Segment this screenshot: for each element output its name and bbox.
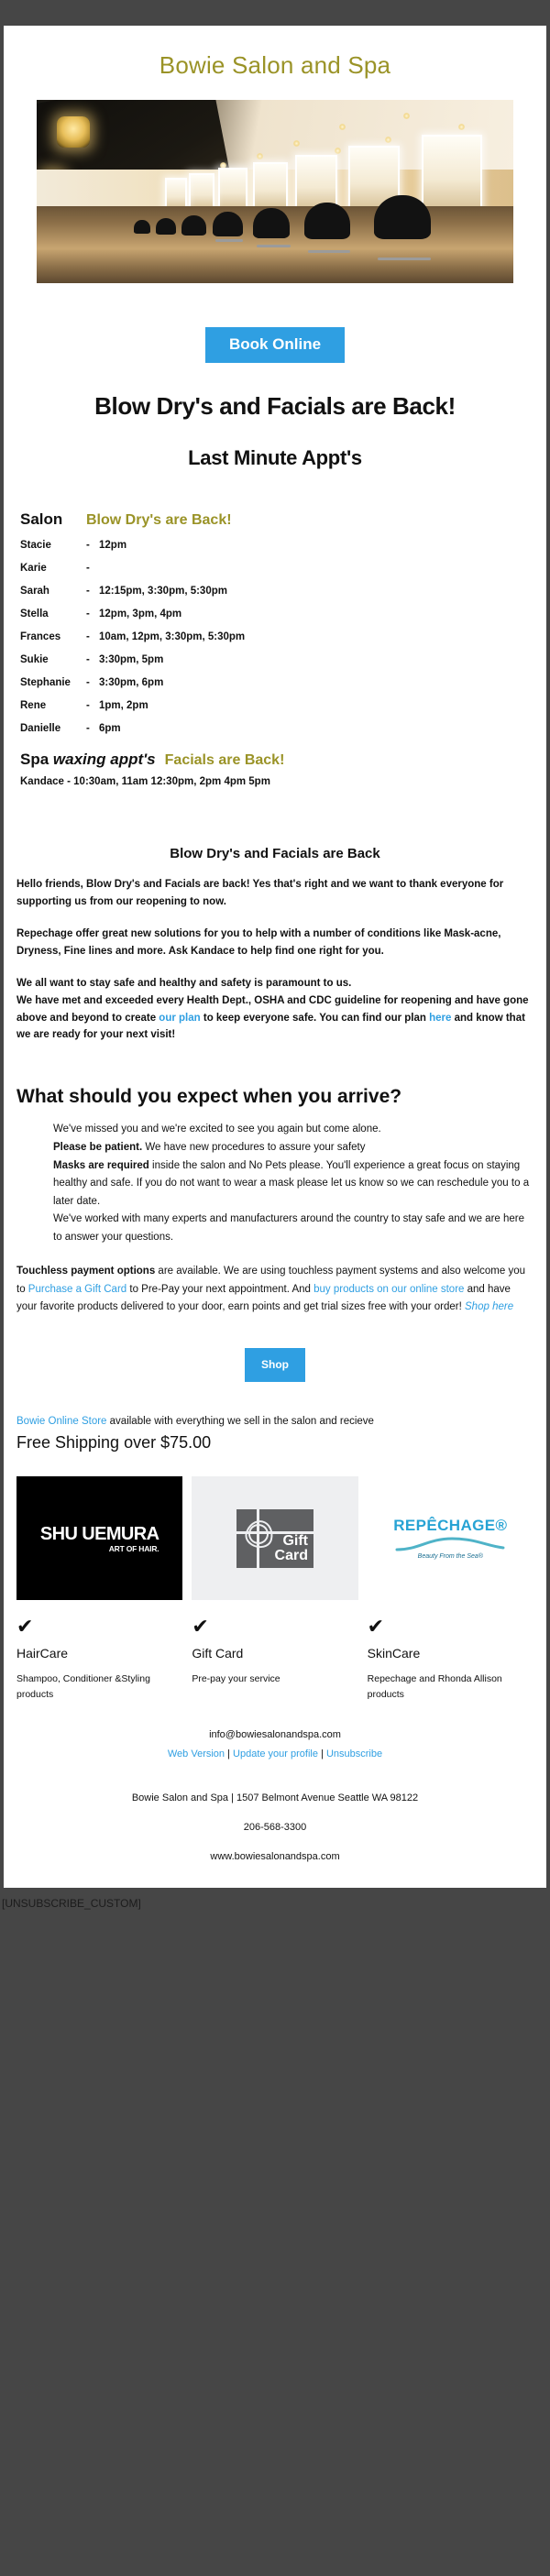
subheadline: Last Minute Appt's <box>4 446 546 470</box>
email-footer: info@bowiesalonandspa.com Web Version | … <box>4 1702 546 1888</box>
hero-image-wrap: bowie bowie bowie bowie bowie <box>4 100 546 283</box>
card-title-gift-card: Gift Card <box>192 1646 357 1661</box>
top-spacer-bar <box>0 0 550 26</box>
row-dash: - <box>86 631 99 642</box>
ceiling-light-dot <box>293 140 300 147</box>
check-icon: ✔ <box>192 1617 357 1637</box>
card-title-haircare: HairCare <box>16 1646 182 1661</box>
card-desc-skincare: Repechage and Rhonda Allison products <box>368 1672 533 1702</box>
email-body-sheet: Bowie Salon and Spa <box>0 26 550 1888</box>
stylist-name: Stacie <box>20 540 86 551</box>
stylist-name: Sukie <box>20 654 86 665</box>
bowie-online-store-link[interactable]: Bowie Online Store <box>16 1416 106 1427</box>
masks-required-bold: Masks are required <box>53 1160 149 1171</box>
schedule-header: Salon Blow Dry's are Back! <box>20 510 546 529</box>
business-address: Bowie Salon and Spa | 1507 Belmont Avenu… <box>4 1792 546 1803</box>
salon-chair <box>156 218 176 235</box>
shop-button[interactable]: Shop <box>245 1348 305 1382</box>
our-plan-link[interactable]: our plan <box>159 1013 200 1024</box>
row-dash: - <box>86 586 99 597</box>
here-link[interactable]: here <box>429 1013 451 1024</box>
table-row: Danielle - 6pm <box>20 723 546 734</box>
card-title-skincare: SkinCare <box>368 1646 533 1661</box>
stylist-times: 3:30pm, 5pm <box>99 654 163 665</box>
card-desc-haircare: Shampoo, Conditioner &Styling products <box>16 1672 182 1702</box>
shu-uemura-logo-icon: SHU UEMURA ART OF HAIR. <box>16 1476 182 1600</box>
row-dash: - <box>86 677 99 688</box>
row-dash: - <box>86 723 99 734</box>
expect-paragraph: We've missed you and we're excited to se… <box>4 1121 546 1246</box>
table-row: Karie - <box>20 563 546 574</box>
book-online-row: Book Online <box>4 283 546 363</box>
online-store-link[interactable]: buy products on our online store <box>313 1284 464 1295</box>
ceiling-light-dot <box>339 124 346 130</box>
row-dash: - <box>86 700 99 711</box>
row-dash: - <box>86 608 99 619</box>
store-line-rest: available with everything we sell in the… <box>106 1416 374 1427</box>
blow-dry-highlight: Blow Dry's are Back! <box>86 512 232 529</box>
table-row: Sukie - 3:30pm, 5pm <box>20 654 546 665</box>
ceiling-light-dot <box>257 153 263 159</box>
expect-line2: We have new procedures to assure your sa… <box>142 1142 365 1153</box>
please-be-patient-bold: Please be patient. <box>53 1142 142 1153</box>
card-word: Card <box>275 1549 308 1563</box>
salon-chair <box>374 195 431 239</box>
repechage-logo-icon: REPÊCHAGE® Beauty From the Sea® <box>368 1476 533 1600</box>
card-haircare[interactable]: SHU UEMURA ART OF HAIR. ✔ HairCare Shamp… <box>16 1476 182 1702</box>
stylist-name: Karie <box>20 563 86 574</box>
repechage-wordmark: REPÊCHAGE® <box>393 1517 507 1535</box>
stylist-times: 10am, 12pm, 3:30pm, 5:30pm <box>99 631 245 642</box>
stylist-times: 12:15pm, 3:30pm, 5:30pm <box>99 586 227 597</box>
chair-base <box>257 245 291 247</box>
stylist-times: 12pm <box>99 540 126 551</box>
repechage-paragraph: Repechage offer great new solutions for … <box>4 926 546 960</box>
spa-label-italic: waxing appt's <box>53 751 156 768</box>
safety-line3: to keep everyone safe. You can find our … <box>201 1013 429 1024</box>
mirror-station <box>165 178 187 210</box>
shu-uemura-tagline: ART OF HAIR. <box>40 1545 159 1553</box>
salon-label: Salon <box>20 510 86 529</box>
check-icon: ✔ <box>16 1617 182 1637</box>
table-row: Stacie - 12pm <box>20 540 546 551</box>
stylist-name: Sarah <box>20 586 86 597</box>
gift-word: Gift <box>275 1534 308 1549</box>
table-row: Rene - 1pm, 2pm <box>20 700 546 711</box>
ceiling-light-dot <box>458 124 465 130</box>
purchase-gift-card-link[interactable]: Purchase a Gift Card <box>28 1284 126 1295</box>
table-row: Frances - 10am, 12pm, 3:30pm, 5:30pm <box>20 631 546 642</box>
appointment-schedule: Salon Blow Dry's are Back! Stacie - 12pm… <box>4 510 546 787</box>
card-skincare[interactable]: REPÊCHAGE® Beauty From the Sea® ✔ SkinCa… <box>368 1476 533 1702</box>
ceiling-light-dot <box>335 148 341 154</box>
salon-chair <box>304 203 350 239</box>
expect-line1: We've missed you and we're excited to se… <box>53 1124 381 1135</box>
ceiling-light-dot <box>403 113 410 119</box>
business-phone: 206-568-3300 <box>4 1822 546 1833</box>
shop-here-link[interactable]: Shop here <box>465 1301 513 1312</box>
check-icon: ✔ <box>368 1617 533 1637</box>
stylist-times: 1pm, 2pm <box>99 700 148 711</box>
ceiling-light-dot <box>385 137 391 143</box>
salon-chair <box>213 212 243 236</box>
card-desc-gift-card: Pre-pay your service <box>192 1672 357 1686</box>
stylist-name: Rene <box>20 700 86 711</box>
stylist-name: Danielle <box>20 723 86 734</box>
shop-button-row: Shop <box>4 1317 546 1382</box>
salon-interior-image: bowie bowie bowie bowie bowie <box>37 100 513 283</box>
chair-base <box>215 239 243 242</box>
stylist-times: 12pm, 3pm, 4pm <box>99 608 181 619</box>
spa-label-plain: Spa <box>20 751 53 768</box>
mirror-station <box>253 162 288 210</box>
salon-chair <box>134 220 150 234</box>
stylist-times: 6pm <box>99 723 121 734</box>
chair-base <box>308 250 350 253</box>
stylist-name: Stephanie <box>20 677 86 688</box>
contact-email: info@bowiesalonandspa.com <box>4 1729 546 1740</box>
row-dash: - <box>86 563 99 574</box>
spa-label: Spa waxing appt's <box>20 751 156 769</box>
mirror-station <box>295 155 337 210</box>
card-gift-card[interactable]: Gift Card ✔ Gift Card Pre-pay your servi… <box>192 1476 357 1702</box>
table-row: Sarah - 12:15pm, 3:30pm, 5:30pm <box>20 586 546 597</box>
book-online-button[interactable]: Book Online <box>205 327 345 363</box>
touchless-payment-bold: Touchless payment options <box>16 1266 155 1277</box>
web-version-link[interactable]: Web Version <box>168 1748 225 1759</box>
salon-chair <box>253 208 290 238</box>
link-separator: | <box>225 1748 233 1759</box>
spa-schedule-row: Kandace - 10:30am, 11am 12:30pm, 2pm 4pm… <box>20 776 546 787</box>
wave-icon <box>393 1537 507 1551</box>
free-shipping-line: Free Shipping over $75.00 <box>4 1433 546 1452</box>
section-heading-expect: What should you expect when you arrive? <box>4 1086 546 1108</box>
business-website: www.bowiesalonandspa.com <box>4 1851 546 1888</box>
unsubscribe-link[interactable]: Unsubscribe <box>326 1748 382 1759</box>
safety-paragraph: We all want to stay safe and healthy and… <box>4 975 546 1045</box>
row-dash: - <box>86 540 99 551</box>
chair-base <box>378 258 431 260</box>
product-cards: SHU UEMURA ART OF HAIR. ✔ HairCare Shamp… <box>4 1452 546 1702</box>
shu-uemura-wordmark: SHU UEMURA <box>40 1525 159 1543</box>
stylist-name: Stella <box>20 608 86 619</box>
payment-paragraph: Touchless payment options are available.… <box>4 1263 546 1317</box>
headline: Blow Dry's and Facials are Back! <box>4 392 546 421</box>
gift-card-icon: Gift Card <box>192 1476 357 1600</box>
mirror-station <box>422 135 482 210</box>
link-separator: | <box>318 1748 326 1759</box>
facials-highlight: Facials are Back! <box>165 752 285 769</box>
pay-line2: to Pre-Pay your next appointment. And <box>126 1284 313 1295</box>
update-profile-link[interactable]: Update your profile <box>233 1748 318 1759</box>
chandelier-icon <box>57 116 90 148</box>
mirror-station <box>189 173 214 210</box>
stylist-name: Frances <box>20 631 86 642</box>
expect-line4: We've worked with many experts and manuf… <box>53 1213 524 1243</box>
row-dash: - <box>86 654 99 665</box>
safety-line1: We all want to stay safe and healthy and… <box>16 978 351 989</box>
spa-section-header: Spa waxing appt's Facials are Back! <box>20 751 546 769</box>
section-heading-back: Blow Dry's and Facials are Back <box>4 846 546 861</box>
table-row: Stella - 12pm, 3pm, 4pm <box>20 608 546 619</box>
stylist-times: 3:30pm, 6pm <box>99 677 163 688</box>
online-store-line: Bowie Online Store available with everyt… <box>4 1413 546 1430</box>
table-row: Stephanie - 3:30pm, 6pm <box>20 677 546 688</box>
page-title: Bowie Salon and Spa <box>4 26 546 100</box>
mirror-station <box>218 168 247 210</box>
unsubscribe-token-bar: [UNSUBSCRIBE_CUSTOM] <box>0 1888 550 1976</box>
footer-links: Web Version | Update your profile | Unsu… <box>4 1748 546 1759</box>
repechage-tagline: Beauty From the Sea® <box>393 1553 507 1560</box>
salon-chair <box>181 215 206 236</box>
intro-paragraph: Hello friends, Blow Dry's and Facials ar… <box>4 876 546 911</box>
email-page: Bowie Salon and Spa <box>0 0 550 2576</box>
